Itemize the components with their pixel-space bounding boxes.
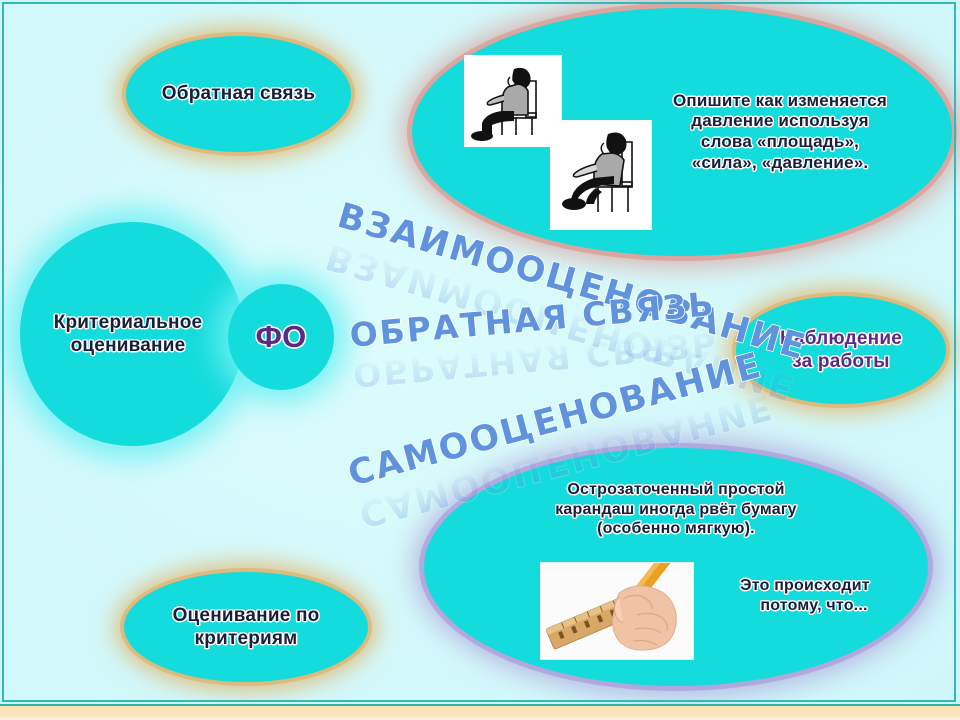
criteria-grading-line-1: Оценивание по [173,604,320,627]
criteria-grading-line-2: критериям [173,627,320,650]
pressure-task-line-4: «сила», «давление». [625,153,935,174]
hand-drawing-pencil-icon [541,563,691,657]
pressure-task-line-1: Опишите как изменяется [625,91,935,112]
pencil-task-line-3: (особенно мягкую). [434,519,918,539]
bottom-accent-strip [0,706,960,720]
person-sitting-upright-image [464,55,562,147]
criteria-assessment-line-1: Критериальное [54,311,203,334]
pencil-ruler-photo [540,562,694,660]
ellipse-feedback-label: Обратная связь [152,82,325,105]
pressure-task-line-2: давление используя [625,111,935,132]
ellipse-criteria-assessment: Критериальное оценивание [20,222,244,446]
presentation-slide: ВЗАИМООЦЕНОВАНИЕ ВЗАИМООЦЕНОВАНИЕ ОБРАТН… [0,0,960,720]
pencil-task-line-2: карандаш иногда рвёт бумагу [434,500,918,520]
ellipse-feedback: Обратная связь [126,36,351,152]
criteria-assessment-line-2: оценивание [54,334,203,357]
person-sitting-upright-icon [464,55,562,147]
pencil-question-line-2: потому, что... [730,596,898,616]
ellipse-criteria-grading: Оценивание по критериям [124,572,368,682]
bottom-accent-line [0,704,960,706]
fo-label: ФО [246,318,317,356]
pencil-question-line-1: Это происходит [712,576,898,596]
pressure-task-line-3: слова «площадь», [625,132,935,153]
ellipse-formative-assessment: ФО [228,284,334,390]
